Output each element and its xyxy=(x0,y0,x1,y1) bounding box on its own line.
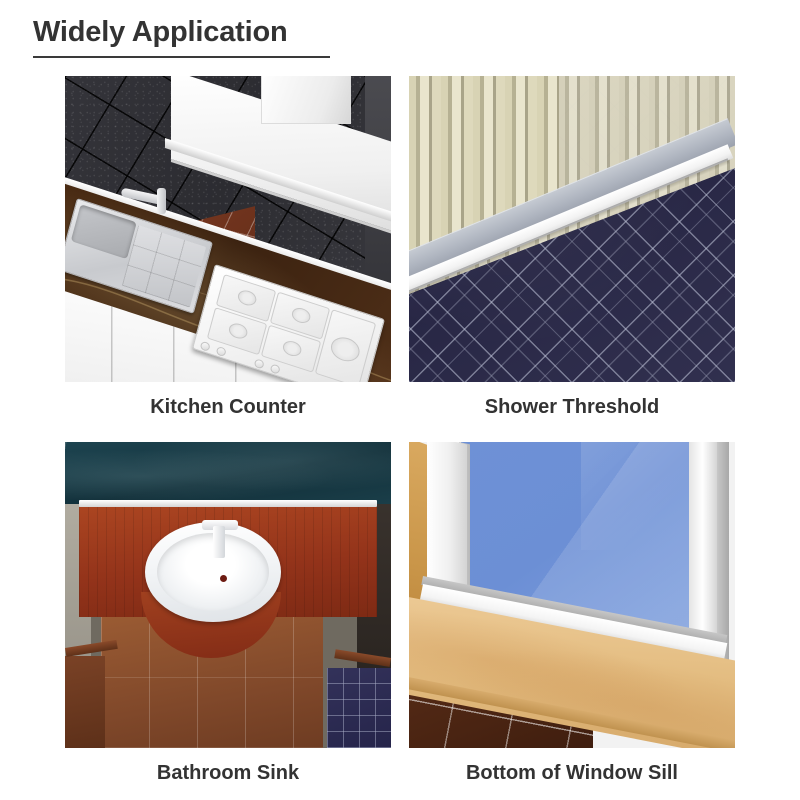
window-sill-image xyxy=(409,442,735,748)
window-glass-highlight xyxy=(581,442,693,550)
page-title: Widely Application xyxy=(33,12,453,52)
bathroom-teal-marble-countertop xyxy=(65,442,391,504)
application-grid-row: Kitchen Counter Shower Threshold xyxy=(0,76,800,420)
kitchen-faucet-body xyxy=(157,188,166,214)
application-card-window-sill[interactable]: Bottom of Window Sill xyxy=(409,442,735,786)
application-grid-row: Bathroom Sink xyxy=(0,442,800,786)
application-caption-shower-threshold: Shower Threshold xyxy=(409,382,735,420)
title-underline-rule xyxy=(33,56,330,58)
application-card-bathroom-sink[interactable]: Bathroom Sink xyxy=(65,442,391,786)
application-card-shower-threshold[interactable]: Shower Threshold xyxy=(409,76,735,420)
window-frame-right-edge xyxy=(717,442,729,666)
application-card-kitchen-counter[interactable]: Kitchen Counter xyxy=(65,76,391,420)
cooktop-knob[interactable] xyxy=(200,341,211,352)
bathroom-floor-left-panel xyxy=(65,656,105,748)
kitchen-range-hood-box xyxy=(261,76,351,124)
widely-application-page: Widely Application xyxy=(0,0,800,800)
cooktop-knob[interactable] xyxy=(216,346,227,357)
bathroom-countertop-edge xyxy=(79,500,377,507)
cooktop-knob[interactable] xyxy=(270,363,281,374)
bathroom-sink-image xyxy=(65,442,391,748)
cooktop-knob[interactable] xyxy=(254,358,265,369)
kitchen-counter-image xyxy=(65,76,391,382)
application-caption-kitchen-counter: Kitchen Counter xyxy=(65,382,391,420)
bathroom-sink-drain xyxy=(220,575,227,582)
bathroom-navy-tile-corner xyxy=(327,668,391,748)
bathroom-faucet-spout xyxy=(213,526,225,558)
page-header: Widely Application xyxy=(33,12,453,58)
application-grid: Kitchen Counter Shower Threshold xyxy=(0,76,800,786)
shower-threshold-image xyxy=(409,76,735,382)
application-caption-window-sill: Bottom of Window Sill xyxy=(409,748,735,786)
application-caption-bathroom-sink: Bathroom Sink xyxy=(65,748,391,786)
